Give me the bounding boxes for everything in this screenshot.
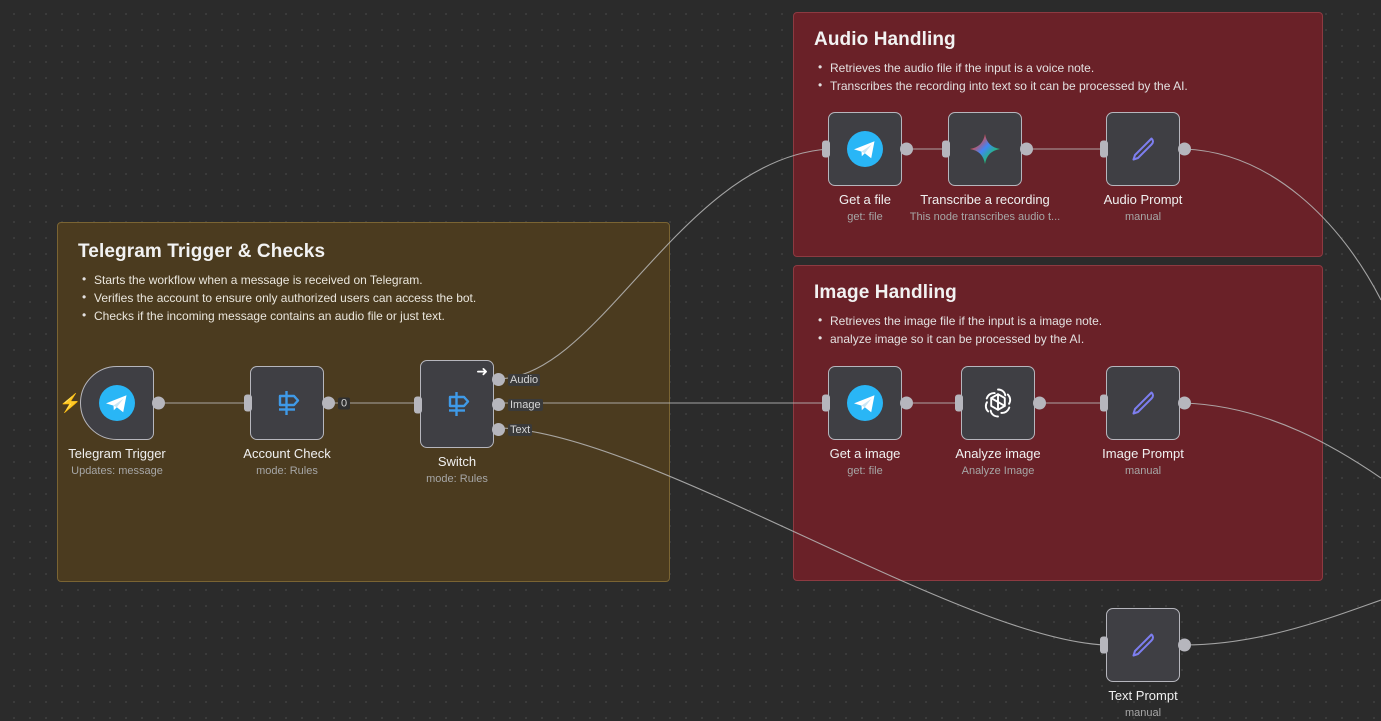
node-box[interactable]: 0 — [250, 366, 324, 440]
node-box[interactable]: ⚡ — [80, 366, 154, 440]
sticky-title: Audio Handling — [814, 29, 1302, 52]
node-caption: Switch mode: Rules — [426, 454, 488, 487]
input-port[interactable] — [955, 395, 963, 412]
node-subtitle: Analyze Image — [955, 463, 1040, 479]
workflow-canvas[interactable]: Audio Handling Retrieves the audio file … — [0, 0, 1381, 721]
node-title: Switch — [426, 454, 488, 470]
output-port[interactable]: 0 — [322, 397, 335, 410]
node-title: Text Prompt — [1108, 688, 1177, 704]
node-title: Audio Prompt — [1104, 192, 1183, 208]
node-subtitle: manual — [1102, 463, 1184, 479]
node-title: Get a image — [830, 446, 901, 462]
node-title: Image Prompt — [1102, 446, 1184, 462]
input-port[interactable] — [414, 397, 422, 414]
input-port[interactable] — [1100, 141, 1108, 158]
output-label-image: Image — [508, 399, 543, 411]
output-port[interactable] — [900, 143, 913, 156]
output-label-audio: Audio — [508, 374, 540, 386]
pin-arrow-icon: ➜ — [476, 364, 488, 378]
output-port[interactable] — [152, 397, 165, 410]
node-box[interactable] — [828, 366, 902, 440]
output-port[interactable] — [1178, 639, 1191, 652]
node-caption: Audio Prompt manual — [1104, 192, 1183, 225]
node-title: Telegram Trigger — [68, 446, 166, 462]
switch-signpost-icon — [267, 383, 307, 423]
node-text-prompt[interactable]: Text Prompt manual — [1106, 608, 1180, 682]
output-port-image[interactable]: Image — [492, 398, 505, 411]
output-port-audio[interactable]: Audio — [492, 373, 505, 386]
node-telegram-trigger[interactable]: ⚡ Telegram Trigger Updates: message — [80, 366, 154, 440]
node-subtitle: get: file — [830, 463, 901, 479]
node-box[interactable] — [948, 112, 1022, 186]
sticky-bullet: analyze image so it can be processed by … — [814, 331, 1302, 348]
node-box[interactable] — [828, 112, 902, 186]
node-caption: Get a image get: file — [830, 446, 901, 479]
sticky-title: Image Handling — [814, 282, 1302, 305]
sticky-bullet: Transcribes the recording into text so i… — [814, 78, 1302, 95]
input-port[interactable] — [1100, 395, 1108, 412]
node-title: Get a file — [839, 192, 891, 208]
node-subtitle: mode: Rules — [426, 471, 488, 487]
pencil-icon — [1123, 129, 1163, 169]
switch-signpost-icon — [437, 384, 477, 424]
telegram-icon — [845, 129, 885, 169]
output-port[interactable] — [1020, 143, 1033, 156]
telegram-icon — [845, 383, 885, 423]
wire-text-prompt-to-next — [1184, 600, 1381, 645]
node-caption: Get a file get: file — [839, 192, 891, 225]
node-get-a-file[interactable]: Get a file get: file — [828, 112, 902, 186]
node-switch[interactable]: ➜ Audio Image Text Switch mode: Rules — [420, 360, 494, 450]
node-caption: Analyze image Analyze Image — [955, 446, 1040, 479]
pencil-icon — [1123, 625, 1163, 665]
lightning-bolt-icon: ⚡ — [59, 394, 81, 412]
node-caption: Image Prompt manual — [1102, 446, 1184, 479]
node-box[interactable] — [1106, 112, 1180, 186]
output-port[interactable] — [1033, 397, 1046, 410]
input-port[interactable] — [244, 395, 252, 412]
node-analyze-image[interactable]: Analyze image Analyze Image — [961, 366, 1035, 440]
node-subtitle: manual — [1108, 705, 1177, 721]
sticky-bullet-list: Starts the workflow when a message is re… — [78, 272, 649, 325]
sticky-bullet: Checks if the incoming message contains … — [78, 308, 649, 325]
sticky-bullet: Verifies the account to ensure only auth… — [78, 290, 649, 307]
node-audio-prompt[interactable]: Audio Prompt manual — [1106, 112, 1180, 186]
sticky-bullet: Starts the workflow when a message is re… — [78, 272, 649, 289]
input-port[interactable] — [822, 141, 830, 158]
pencil-icon — [1123, 383, 1163, 423]
telegram-icon — [97, 383, 137, 423]
output-port-text[interactable]: Text — [492, 423, 505, 436]
openai-icon — [978, 383, 1018, 423]
input-port[interactable] — [942, 141, 950, 158]
node-subtitle: This node transcribes audio t... — [910, 209, 1060, 225]
node-caption: Account Check mode: Rules — [243, 446, 330, 479]
gemini-star-icon — [965, 129, 1005, 169]
node-transcribe-a-recording[interactable]: Transcribe a recording This node transcr… — [948, 112, 1022, 186]
node-subtitle: mode: Rules — [243, 463, 330, 479]
output-port[interactable] — [900, 397, 913, 410]
output-label-text: Text — [508, 424, 532, 436]
input-port[interactable] — [822, 395, 830, 412]
node-account-check[interactable]: 0 Account Check mode: Rules — [250, 366, 324, 440]
node-title: Account Check — [243, 446, 330, 462]
node-box[interactable] — [1106, 366, 1180, 440]
node-subtitle: manual — [1104, 209, 1183, 225]
sticky-bullet-list: Retrieves the audio file if the input is… — [814, 60, 1302, 95]
input-port[interactable] — [1100, 637, 1108, 654]
sticky-title: Telegram Trigger & Checks — [78, 241, 649, 264]
node-box[interactable] — [1106, 608, 1180, 682]
output-port[interactable] — [1178, 397, 1191, 410]
node-box[interactable] — [961, 366, 1035, 440]
output-index-label: 0 — [338, 397, 350, 409]
node-caption: Text Prompt manual — [1108, 688, 1177, 721]
node-caption: Transcribe a recording This node transcr… — [910, 192, 1060, 225]
sticky-bullet: Retrieves the image file if the input is… — [814, 313, 1302, 330]
node-image-prompt[interactable]: Image Prompt manual — [1106, 366, 1180, 440]
node-caption: Telegram Trigger Updates: message — [68, 446, 166, 479]
sticky-bullet-list: Retrieves the image file if the input is… — [814, 313, 1302, 348]
node-title: Transcribe a recording — [910, 192, 1060, 208]
node-box[interactable]: ➜ Audio Image Text — [420, 360, 494, 448]
node-subtitle: Updates: message — [68, 463, 166, 479]
node-title: Analyze image — [955, 446, 1040, 462]
output-port[interactable] — [1178, 143, 1191, 156]
sticky-bullet: Retrieves the audio file if the input is… — [814, 60, 1302, 77]
node-subtitle: get: file — [839, 209, 891, 225]
node-get-a-image[interactable]: Get a image get: file — [828, 366, 902, 440]
